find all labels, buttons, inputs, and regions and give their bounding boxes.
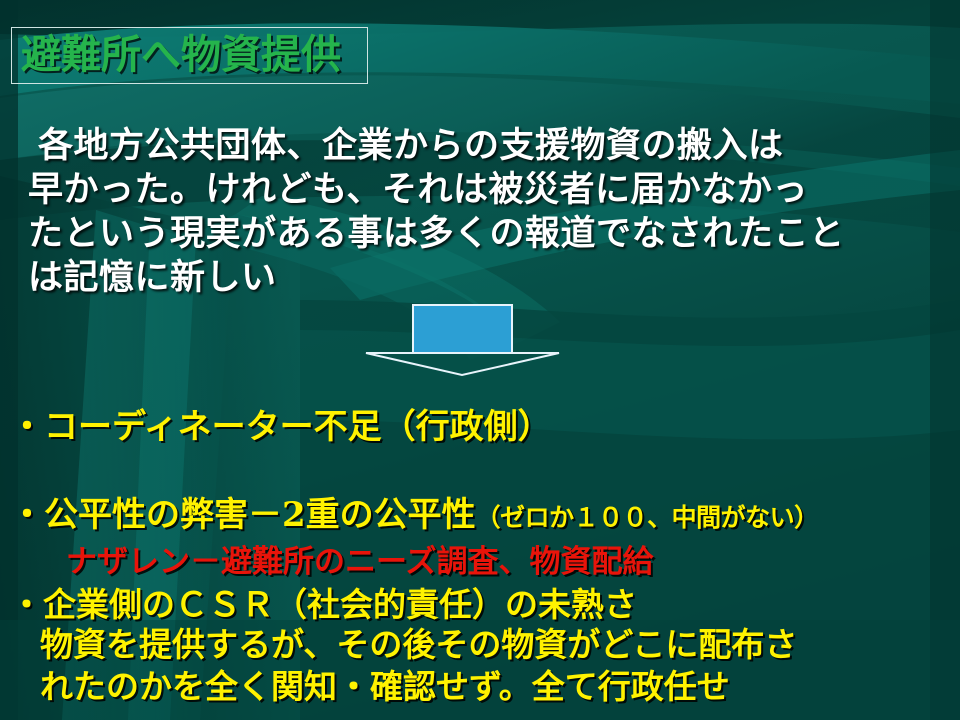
body-line-3: たという現実がある事は多くの報道でなされたこと bbox=[28, 212, 936, 256]
body-line-4: は記憶に新しい bbox=[28, 256, 936, 300]
bullet-item-2: ・公平性の弊害－2重の公平性（ゼロか１００、中間がない） bbox=[10, 487, 819, 536]
body-paragraph: 各地方公共団体、企業からの支援物資の搬入は 早かった。けれども、それは被災者に届… bbox=[28, 124, 936, 300]
highlight-line-nazarene: ナザレン－避難所のニーズ調査、物資配給 bbox=[66, 536, 653, 581]
bullet-marker-2: ・ bbox=[10, 495, 44, 535]
down-arrow-icon bbox=[360, 303, 565, 379]
presentation-slide: 避難所へ物資提供 各地方公共団体、企業からの支援物資の搬入は 早かった。けれども… bbox=[0, 0, 960, 720]
continuation-line-2: れたのかを全く関知・確認せず。全て行政任せ bbox=[40, 660, 730, 708]
bullet-marker-3: ・ bbox=[10, 585, 43, 624]
bullet-item-1: ・コーディネーター不足（行政側） bbox=[10, 399, 552, 448]
bullet-marker-1: ・ bbox=[10, 407, 44, 447]
body-line-2: 早かった。けれども、それは被災者に届かなかっ bbox=[28, 168, 936, 212]
bullet-text-2: 公平性の弊害－2重の公平性 bbox=[44, 495, 476, 535]
page-title: 避難所へ物資提供 bbox=[21, 29, 361, 82]
bullet-text-1: コーディネーター不足（行政側） bbox=[44, 407, 552, 447]
continuation-line-1: 物資を提供するが、その後その物資がどこに配布さ bbox=[40, 618, 797, 666]
body-line-1: 各地方公共団体、企業からの支援物資の搬入は bbox=[28, 124, 936, 168]
bullet-note-2: （ゼロか１００、中間がない） bbox=[476, 503, 819, 532]
